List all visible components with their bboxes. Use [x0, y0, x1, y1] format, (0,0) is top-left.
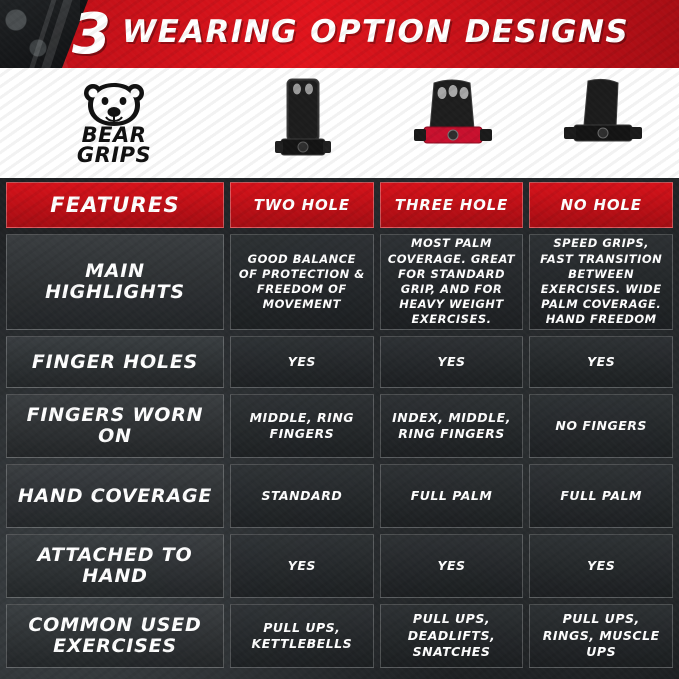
product-no-hole — [528, 68, 678, 178]
feature-label: HAND COVERAGE — [6, 464, 224, 528]
header-banner: 3 WEARING OPTION DESIGNS — [0, 0, 679, 68]
table-row: HAND COVERAGE STANDARD FULL PALM FULL PA… — [6, 464, 673, 528]
value-two-hole: PULL UPS, KETTLEBELLS — [230, 604, 374, 668]
value-no-hole: PULL UPS, RINGS, MUSCLE UPS — [529, 604, 673, 668]
value-two-hole: MIDDLE, RING FINGERS — [230, 394, 374, 458]
value-two-hole: STANDARD — [230, 464, 374, 528]
feature-label: ATTACHED TO HAND — [6, 534, 224, 598]
header-number: 3 — [72, 2, 109, 67]
brand-line-2: GRIPS — [77, 146, 151, 165]
header-no-hole: NO HOLE — [529, 182, 673, 228]
value-no-hole: FULL PALM — [529, 464, 673, 528]
no-hole-grip-icon — [558, 75, 648, 171]
feature-label: FINGERS WORN ON — [6, 394, 224, 458]
table-row: ATTACHED TO HAND YES YES YES — [6, 534, 673, 598]
bear-head-icon — [78, 81, 150, 127]
three-hole-grip-icon — [408, 75, 498, 171]
value-three-hole: INDEX, MIDDLE, RING FINGERS — [380, 394, 524, 458]
product-three-hole — [378, 68, 528, 178]
table-row: COMMON USED EXERCISES PULL UPS, KETTLEBE… — [6, 604, 673, 668]
brand-wordmark: BEAR GRIPS — [77, 126, 151, 165]
value-two-hole: YES — [230, 534, 374, 598]
value-three-hole: MOST PALM COVERAGE. GREAT FOR STANDARD G… — [380, 234, 524, 330]
table-row: FINGERS WORN ON MIDDLE, RING FINGERS IND… — [6, 394, 673, 458]
feature-label: COMMON USED EXERCISES — [6, 604, 224, 668]
value-no-hole: SPEED GRIPS, FAST TRANSITION BETWEEN EXE… — [529, 234, 673, 330]
value-two-hole: GOOD BALANCE OF PROTECTION & FREEDOM OF … — [230, 234, 374, 330]
value-three-hole: PULL UPS, DEADLIFTS, SNATCHES — [380, 604, 524, 668]
value-no-hole: YES — [529, 534, 673, 598]
header-three-hole: THREE HOLE — [380, 182, 524, 228]
header-features: FEATURES — [6, 182, 224, 228]
value-three-hole: YES — [380, 534, 524, 598]
value-no-hole: NO FINGERS — [529, 394, 673, 458]
value-three-hole: YES — [380, 336, 524, 388]
header-two-hole: TWO HOLE — [230, 182, 374, 228]
feature-label: MAIN HIGHLIGHTS — [6, 234, 224, 330]
brand-logo: BEAR GRIPS — [54, 81, 174, 165]
product-band: BEAR GRIPS — [0, 68, 679, 178]
brand-logo-cell: BEAR GRIPS — [0, 68, 228, 178]
feature-label: FINGER HOLES — [6, 336, 224, 388]
value-three-hole: FULL PALM — [380, 464, 524, 528]
value-no-hole: YES — [529, 336, 673, 388]
product-two-hole — [228, 68, 378, 178]
header-title: WEARING OPTION DESIGNS — [122, 14, 629, 50]
table-header-row: FEATURES TWO HOLE THREE HOLE NO HOLE — [6, 182, 673, 228]
table-row: MAIN HIGHLIGHTS GOOD BALANCE OF PROTECTI… — [6, 234, 673, 330]
table-row: FINGER HOLES YES YES YES — [6, 336, 673, 388]
value-two-hole: YES — [230, 336, 374, 388]
infographic-page: 3 WEARING OPTION DESIGNS — [0, 0, 679, 679]
comparison-table: FEATURES TWO HOLE THREE HOLE NO HOLE MAI… — [0, 182, 679, 668]
two-hole-grip-icon — [267, 75, 339, 171]
